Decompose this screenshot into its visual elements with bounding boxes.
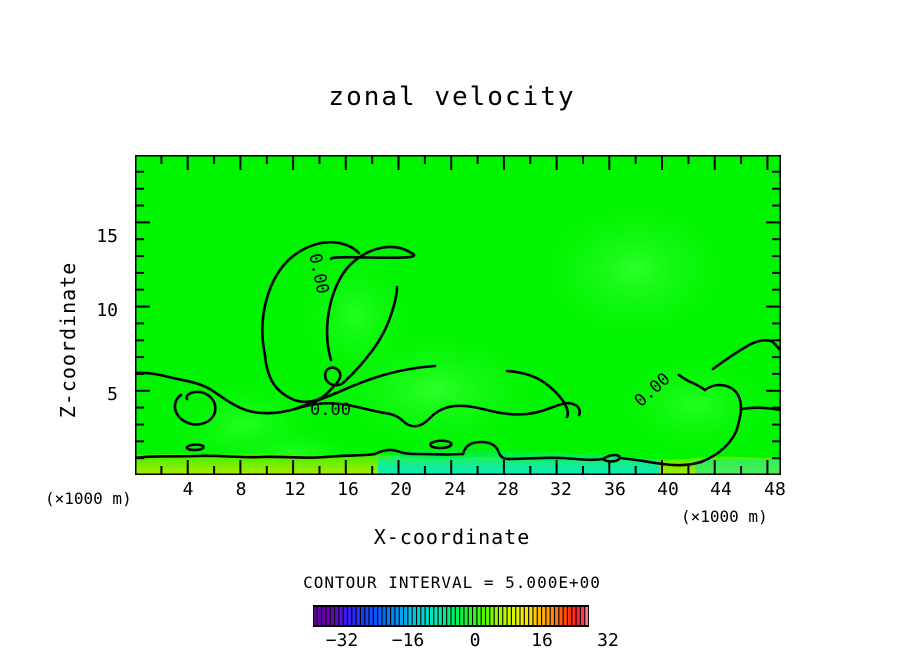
colorbar-band (460, 607, 463, 625)
colorbar-band (456, 607, 459, 625)
colorbar-band (318, 607, 321, 625)
colorbar-band (421, 607, 424, 625)
colorbar-band (322, 607, 325, 625)
colorbar-band (559, 607, 562, 625)
colorbar-band (568, 607, 571, 625)
colorbar-band (482, 607, 485, 625)
colorbar-band (490, 607, 493, 625)
colorbar-band (521, 607, 524, 625)
colorbar[interactable] (313, 605, 589, 627)
colorbar-tick-label-0: 0 (450, 632, 500, 650)
colorbar-band (546, 607, 549, 625)
colorbar-band (370, 607, 373, 625)
colorbar-band (516, 607, 519, 625)
x-tick-label-48: 48 (755, 481, 795, 499)
colorbar-band (417, 607, 420, 625)
colorbar-band (585, 607, 588, 625)
colorbar-band (391, 607, 394, 625)
colorbar-band (477, 607, 480, 625)
colorbar-band (400, 607, 403, 625)
axis-ticks (135, 155, 781, 475)
x-tick-label-16: 16 (328, 481, 368, 499)
x-tick-label-4: 4 (168, 481, 208, 499)
colorbar-band (551, 607, 554, 625)
colorbar-band (344, 607, 347, 625)
colorbar-tick-label--32: −32 (317, 632, 367, 650)
colorbar-tick-label--16: −16 (383, 632, 433, 650)
colorbar-band (426, 607, 429, 625)
colorbar-band (512, 607, 515, 625)
colorbar-band (486, 607, 489, 625)
y-tick-label-5: 5 (78, 386, 118, 404)
page-title: zonal velocity (0, 84, 904, 110)
x-tick-label-40: 40 (648, 481, 688, 499)
colorbar-band (452, 607, 455, 625)
colorbar-band (447, 607, 450, 625)
colorbar-band (383, 607, 386, 625)
colorbar-band (357, 607, 360, 625)
colorbar-band (469, 607, 472, 625)
colorbar-band (572, 607, 575, 625)
x-tick-label-28: 28 (488, 481, 528, 499)
z-unit-note: (×1000 m) (45, 491, 132, 507)
colorbar-band (508, 607, 511, 625)
colorbar-band (495, 607, 498, 625)
colorbar-band (430, 607, 433, 625)
colorbar-band (413, 607, 416, 625)
colorbar-band (326, 607, 329, 625)
colorbar-band (361, 607, 364, 625)
x-tick-label-24: 24 (435, 481, 475, 499)
colorbar-band (339, 607, 342, 625)
colorbar-band (434, 607, 437, 625)
y-tick-label-15: 15 (78, 228, 118, 246)
colorbar-band (525, 607, 528, 625)
y-axis-label: Z-coordinate (58, 240, 78, 440)
colorbar-band (542, 607, 545, 625)
colorbar-band (387, 607, 390, 625)
colorbar-band (331, 607, 334, 625)
colorbar-band (352, 607, 355, 625)
colorbar-band (533, 607, 536, 625)
colorbar-band (439, 607, 442, 625)
x-tick-label-12: 12 (275, 481, 315, 499)
y-tick-label-10: 10 (78, 302, 118, 320)
x-tick-label-8: 8 (221, 481, 261, 499)
x-tick-label-44: 44 (701, 481, 741, 499)
colorbar-band (374, 607, 377, 625)
figure-canvas: zonal velocity Z-coordinate X-coordinate… (0, 0, 904, 654)
colorbar-band (314, 607, 317, 625)
colorbar-band (464, 607, 467, 625)
x-unit-note: (×1000 m) (681, 509, 768, 525)
x-tick-label-36: 36 (595, 481, 635, 499)
colorbar-tick-label-32: 32 (583, 632, 633, 650)
colorbar-band (404, 607, 407, 625)
colorbar-band (473, 607, 476, 625)
colorbar-band (555, 607, 558, 625)
colorbar-band (529, 607, 532, 625)
colorbar-tick-label-16: 16 (517, 632, 567, 650)
colorbar-band (335, 607, 338, 625)
colorbar-band (503, 607, 506, 625)
colorbar-band (538, 607, 541, 625)
colorbar-band (348, 607, 351, 625)
x-axis-label: X-coordinate (0, 527, 904, 547)
contour-interval-caption: CONTOUR INTERVAL = 5.000E+00 (0, 575, 904, 591)
x-tick-label-32: 32 (541, 481, 581, 499)
colorbar-band (365, 607, 368, 625)
colorbar-band (378, 607, 381, 625)
plot-frame (135, 155, 781, 475)
colorbar-band (581, 607, 584, 625)
colorbar-band (443, 607, 446, 625)
colorbar-band (577, 607, 580, 625)
x-tick-label-20: 20 (381, 481, 421, 499)
colorbar-band (564, 607, 567, 625)
colorbar-band (395, 607, 398, 625)
colorbar-band (499, 607, 502, 625)
colorbar-band (408, 607, 411, 625)
axis-frame (135, 155, 781, 475)
